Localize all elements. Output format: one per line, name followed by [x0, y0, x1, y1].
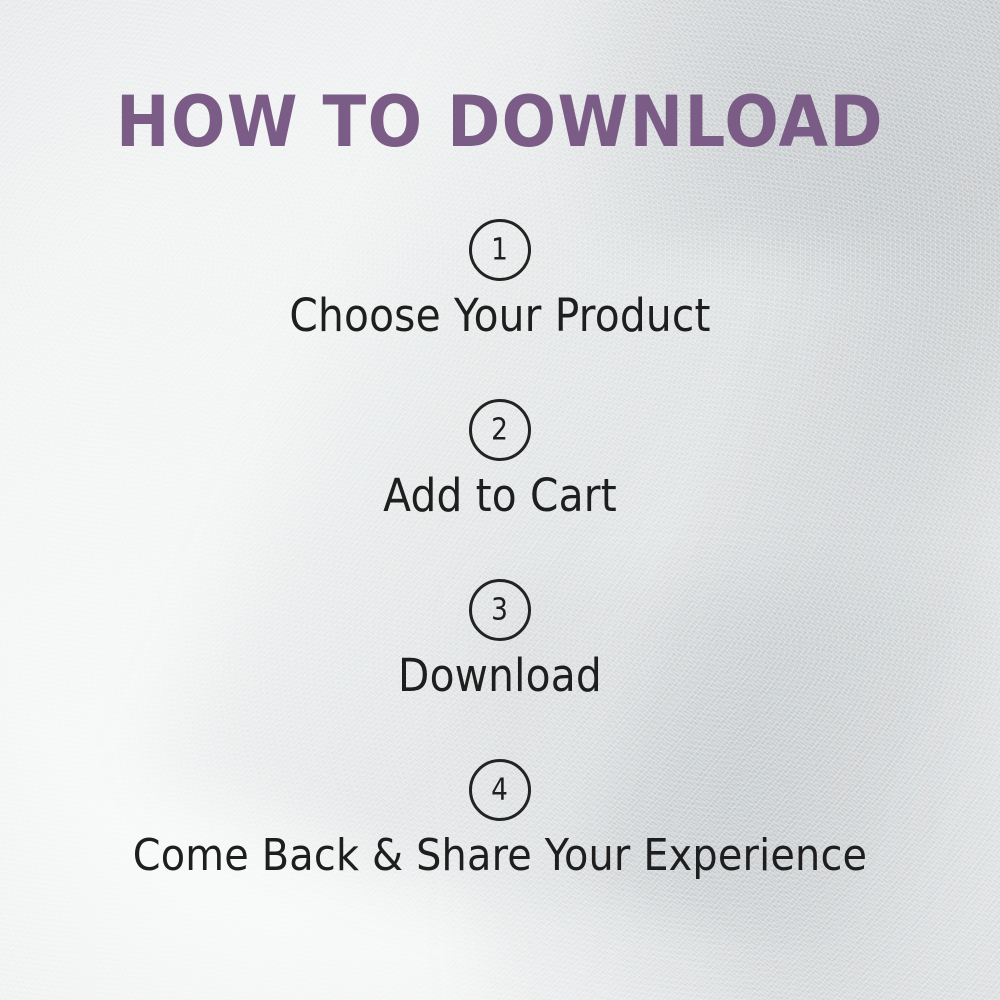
step-item-1: 1 Choose Your Product — [0, 219, 1000, 342]
step-label-4: Come Back & Share Your Experience — [48, 830, 953, 882]
step-number-circle-1: 1 — [469, 219, 531, 281]
step-item-3: 3 Download — [0, 579, 1000, 702]
poster-canvas: HOW TO DOWNLOAD 1 Choose Your Product 2 … — [0, 0, 1000, 1000]
step-label-2: Add to Cart — [48, 470, 953, 522]
step-number-circle-2: 2 — [469, 399, 531, 461]
step-item-4: 4 Come Back & Share Your Experience — [0, 759, 1000, 882]
step-number-3: 3 — [492, 596, 509, 626]
page-title: HOW TO DOWNLOAD — [43, 84, 958, 160]
step-label-1: Choose Your Product — [48, 290, 953, 342]
step-item-2: 2 Add to Cart — [0, 399, 1000, 522]
steps-list: 1 Choose Your Product 2 Add to Cart 3 Do… — [0, 219, 1000, 882]
poster-content: HOW TO DOWNLOAD 1 Choose Your Product 2 … — [0, 0, 1000, 1000]
step-number-circle-4: 4 — [469, 759, 531, 821]
step-number-4: 4 — [492, 776, 509, 806]
step-number-circle-3: 3 — [469, 579, 531, 641]
step-number-2: 2 — [492, 416, 509, 446]
step-label-3: Download — [48, 650, 953, 702]
step-number-1: 1 — [492, 236, 509, 266]
